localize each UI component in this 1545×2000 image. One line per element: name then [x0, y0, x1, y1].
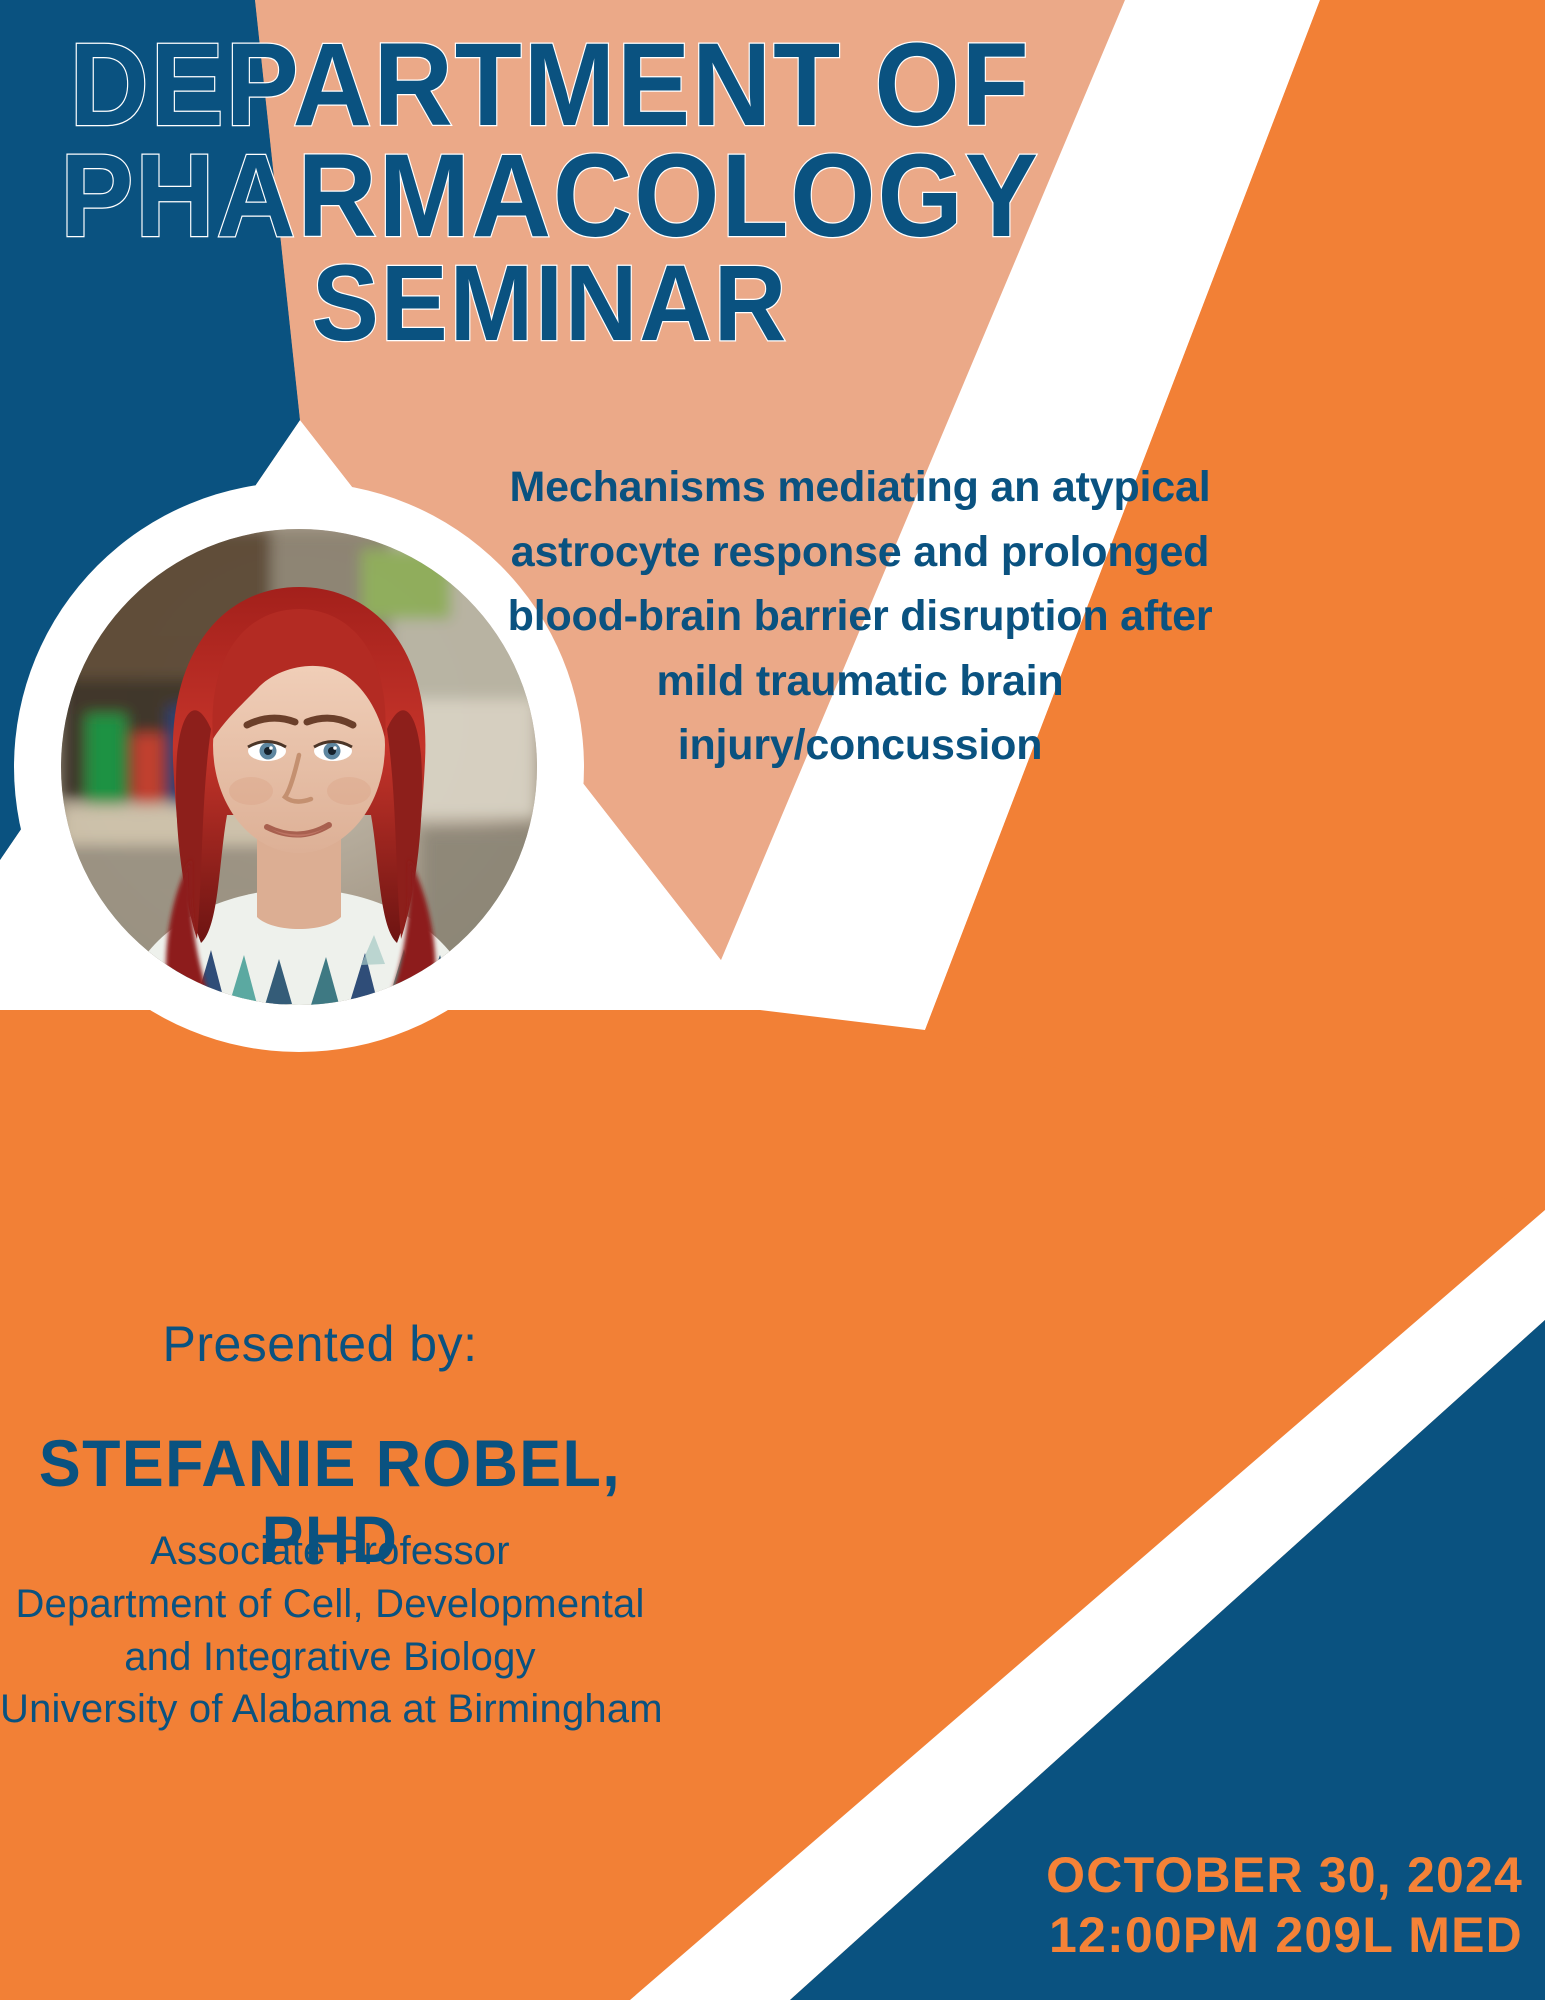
- affiliation-line-2: Department of Cell, Developmental: [0, 1578, 660, 1631]
- event-date: OCTOBER 30, 2024: [1046, 1845, 1523, 1905]
- seminar-flyer: DEPARTMENT OF PHARMACOLOGY SEMINAR: [0, 0, 1545, 2000]
- affiliation-line-1: Associate Professor: [0, 1525, 660, 1578]
- avatar: [61, 529, 537, 1005]
- event-time-location: 12:00PM 209L MED: [1046, 1905, 1523, 1965]
- speaker-photo-frame: [14, 482, 584, 1052]
- speaker-portrait-illustration: [61, 529, 537, 1005]
- presented-by-label: Presented by:: [0, 1315, 640, 1373]
- speaker-affiliation: Associate Professor Department of Cell, …: [0, 1525, 660, 1736]
- affiliation-line-4: University of Alabama at Birmingham: [0, 1683, 660, 1736]
- talk-title: Mechanisms mediating an atypical astrocy…: [500, 455, 1220, 778]
- affiliation-line-3: and Integrative Biology: [0, 1631, 660, 1684]
- event-datetime: OCTOBER 30, 2024 12:00PM 209L MED: [1046, 1845, 1523, 1965]
